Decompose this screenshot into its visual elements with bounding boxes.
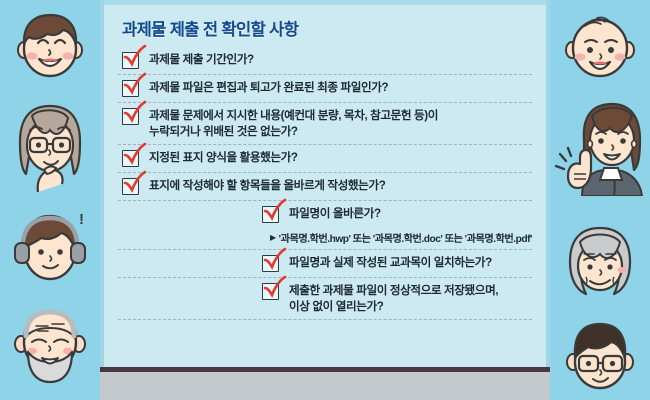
page-title: 과제물 제출 전 확인할 사항 (122, 16, 532, 40)
checklist-item-line: 제출한 과제물 파일이 정상적으로 저장됐으며, (289, 283, 498, 299)
left-avatar-column: ! (0, 0, 100, 400)
checklist-item-label: 과제물 파일은 편집과 퇴고가 완료된 최종 파일인가? (149, 79, 388, 96)
checklist-item-line: 과제물 파일은 편집과 퇴고가 완료된 최종 파일인가? (149, 80, 388, 96)
checklist-item-line: 누락되거나 위배된 것은 없는가? (149, 124, 438, 140)
checklist-row-check-cover-fields[interactable]: 표지에 작성해야 할 항목들을 올바르게 작성했는가? (118, 173, 532, 201)
checkbox-checked-icon[interactable] (262, 255, 279, 272)
checkbox-checked-icon[interactable] (122, 80, 139, 97)
checklist-rows: 과제물 제출 기간인가?과제물 파일은 편집과 퇴고가 완료된 최종 파일인가?… (118, 47, 532, 320)
right-avatar-column (550, 0, 650, 400)
red-check-mark-icon (122, 171, 146, 193)
checklist-item-label: 파일명과 실제 작성된 교과목이 일치하는가? (289, 254, 492, 271)
checklist-item-label: 지정된 표지 양식을 활용했는가? (149, 149, 298, 166)
woman-thumbs-up-avatar (554, 96, 646, 196)
checklist-item-line: 과제물 문제에서 지시한 내용(예컨대 분량, 목차, 참고문헌 등)이 (149, 108, 438, 124)
checklist-item-label: 과제물 제출 기간인가? (149, 51, 254, 68)
desk-edge-line (100, 367, 550, 372)
checkbox-checked-icon[interactable] (262, 206, 279, 223)
checklist-item-label: 표지에 작성해야 할 항목들을 올바르게 작성했는가? (149, 177, 385, 194)
red-check-mark-icon (122, 45, 146, 67)
checkbox-checked-icon[interactable] (122, 52, 139, 69)
boy-smiling-avatar (11, 6, 89, 86)
bald-man-smiling-avatar (561, 8, 639, 86)
checklist-item-line: 표지에 작성해야 할 항목들을 올바르게 작성했는가? (149, 178, 385, 194)
checklist-item-line: 파일명이 올바른가? (289, 206, 381, 222)
checkbox-checked-icon[interactable] (122, 178, 139, 195)
checklist-row-check-final-file[interactable]: 과제물 파일은 편집과 퇴고가 완료된 최종 파일인가? (118, 75, 532, 103)
woman-glasses-thinking-avatar (10, 100, 90, 192)
checklist-item-label: 파일명이 올바른가? (289, 205, 381, 222)
checklist-item-line: 과제물 제출 기간인가? (149, 52, 254, 68)
checklist-item-line: 이상 없이 열리는가? (289, 299, 498, 315)
filename-format-text: '과목명.학번.hwp' 또는 '과목명.학번.doc' 또는 '과목명.학번.… (279, 230, 532, 245)
checklist-row-check-cover-format[interactable]: 지정된 표지 양식을 활용했는가? (118, 145, 532, 173)
man-glasses-avatar (561, 316, 639, 396)
red-check-mark-icon (262, 276, 286, 298)
checklist-item-line: 파일명과 실제 작성된 교과목이 일치하는가? (289, 255, 492, 271)
poster-canvas: ! (0, 0, 650, 400)
checkbox-checked-icon[interactable] (122, 108, 139, 125)
checklist-item-label: 과제물 문제에서 지시한 내용(예컨대 분량, 목차, 참고문헌 등)이누락되거… (149, 107, 438, 139)
checkbox-checked-icon[interactable] (262, 283, 279, 300)
checklist-panel: 과제물 제출 전 확인할 사항 과제물 제출 기간인가?과제물 파일은 편집과 … (100, 0, 550, 372)
filename-format-hint: ▶'과목명.학번.hwp' 또는 '과목명.학번.doc' 또는 '과목명.학번… (270, 230, 532, 245)
red-check-mark-icon (262, 199, 286, 221)
checklist-row-check-instructions-followed[interactable]: 과제물 문제에서 지시한 내용(예컨대 분량, 목차, 참고문헌 등)이누락되거… (118, 103, 532, 145)
red-check-mark-icon (122, 143, 146, 165)
red-check-mark-icon (122, 101, 146, 123)
checklist-row-check-file-saved-opens[interactable]: 제출한 과제물 파일이 정상적으로 저장됐으며,이상 없이 열리는가? (118, 278, 532, 320)
checklist-row-check-filename-matches-subject[interactable]: 파일명과 실제 작성된 교과목이 일치하는가? (118, 250, 532, 278)
old-man-beard-avatar (10, 300, 90, 384)
svg-text:!: ! (79, 211, 84, 228)
checklist-row-check-filename-correct[interactable]: 파일명이 올바른가? (118, 201, 532, 228)
filename-format-hint-row: ▶'과목명.학번.hwp' 또는 '과목명.학번.doc' 또는 '과목명.학번… (118, 228, 532, 250)
old-woman-gray-hair-avatar (560, 222, 640, 302)
triangle-bullet-icon: ▶ (270, 233, 276, 242)
red-check-mark-icon (262, 248, 286, 270)
checklist-row-check-submission-period[interactable]: 과제물 제출 기간인가? (118, 47, 532, 75)
desk-surface (100, 372, 550, 400)
checklist-item-line: 지정된 표지 양식을 활용했는가? (149, 150, 298, 166)
red-check-mark-icon (122, 73, 146, 95)
checkbox-checked-icon[interactable] (122, 150, 139, 167)
checklist-item-label: 제출한 과제물 파일이 정상적으로 저장됐으며,이상 없이 열리는가? (289, 282, 498, 314)
boy-headphones-avatar: ! (9, 208, 91, 288)
